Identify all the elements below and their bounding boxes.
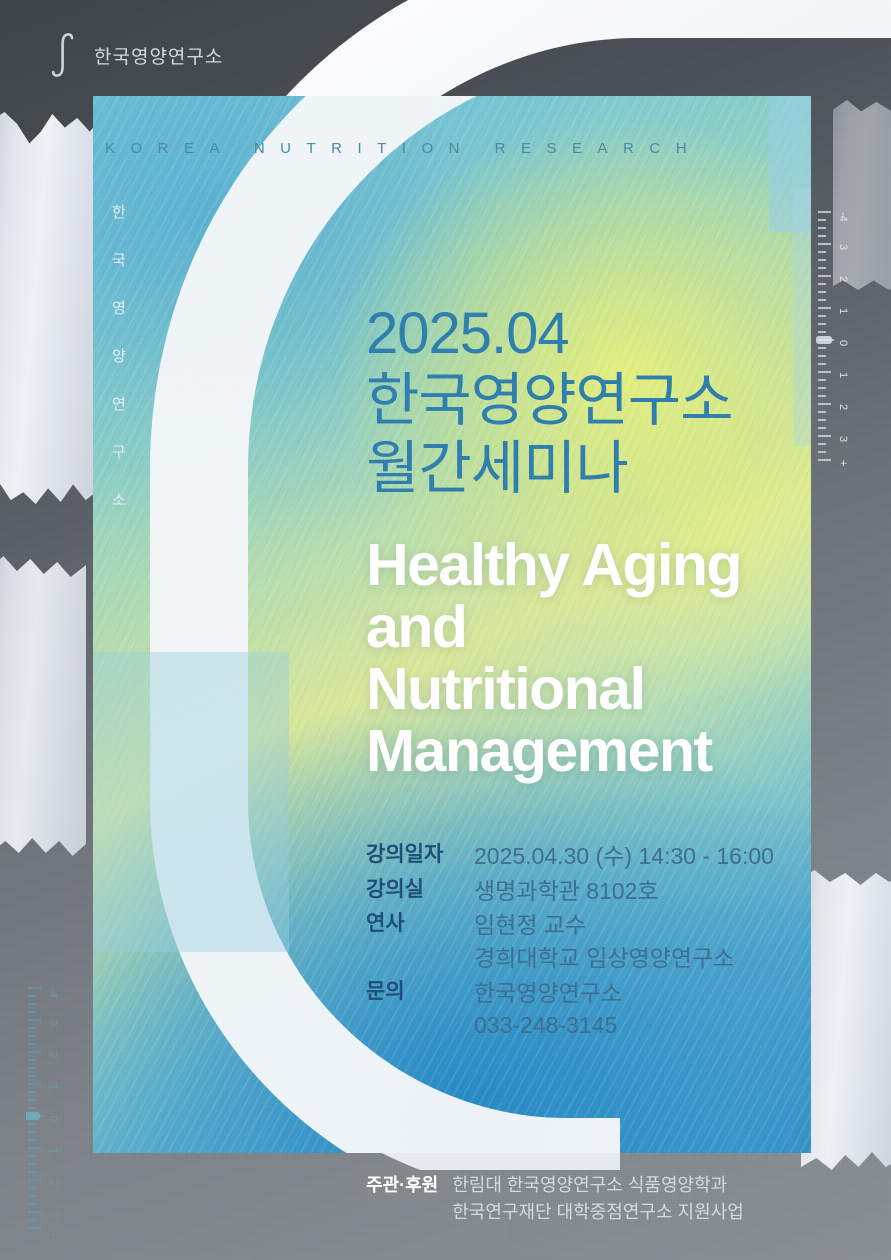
- korean-title-line: 한국영양연구소: [366, 367, 733, 434]
- korean-title-block: 2025.04 한국영양연구소 월간세미나: [366, 300, 733, 502]
- vertical-char: 소: [112, 493, 126, 508]
- vertical-char: 국: [112, 253, 126, 268]
- detail-value: 한국영양연구소: [474, 977, 622, 1010]
- svg-text:2: 2: [837, 404, 849, 410]
- english-title-line: Management: [366, 721, 741, 783]
- svg-text:1: 1: [837, 308, 849, 314]
- svg-text:3: 3: [47, 1212, 59, 1218]
- detail-values: 임현정 교수 경희대학교 임상영양연구소: [474, 909, 734, 974]
- torn-paper-strip-right-lower: [801, 870, 891, 1170]
- english-title-block: Healthy Aging and Nutritional Management: [366, 535, 741, 783]
- korean-title-line: 월간세미나: [366, 435, 733, 502]
- torn-paper-strip-left-lower: [0, 556, 86, 856]
- detail-values: 2025.04.30 (수) 14:30 - 16:00: [474, 840, 774, 873]
- vertical-char: 연: [112, 397, 126, 412]
- footer-value: 한림대 한국영양연구소 식품영양학과: [452, 1172, 744, 1199]
- svg-text:-4: -4: [837, 212, 849, 222]
- svg-text:0: 0: [837, 340, 849, 346]
- vertical-korean-column: 한 국 영 양 연 구 소: [112, 205, 126, 508]
- tracked-latin-header: KOREA NUTRITION RESEARCH: [105, 140, 805, 157]
- svg-text:1: 1: [47, 1084, 59, 1090]
- svg-text:2: 2: [47, 1052, 59, 1058]
- svg-text:-4: -4: [47, 988, 59, 998]
- svg-text:3: 3: [837, 244, 849, 250]
- detail-value: 2025.04.30 (수) 14:30 - 16:00: [474, 840, 774, 873]
- svg-text:1: 1: [837, 372, 849, 378]
- svg-text:3: 3: [837, 436, 849, 442]
- detail-label: 문의: [366, 977, 474, 1007]
- footer-values: 한림대 한국영양연구소 식품영양학과 한국연구재단 대학중점연구소 지원사업: [452, 1172, 744, 1226]
- vertical-char: 한: [112, 205, 126, 220]
- detail-values: 한국영양연구소 033-248-3145: [474, 977, 622, 1042]
- seminar-details-block: 강의일자 2025.04.30 (수) 14:30 - 16:00 강의실 생명…: [366, 840, 774, 1044]
- detail-label: 연사: [366, 909, 474, 939]
- svg-text:0: 0: [47, 1116, 59, 1122]
- ruler-scale-right: -4 3 2 1 0 1 2 3 +4: [816, 198, 862, 466]
- vertical-char: 구: [112, 445, 126, 460]
- detail-row-contact: 문의 한국영양연구소 033-248-3145: [366, 977, 774, 1042]
- svg-text:+4: +4: [837, 460, 849, 466]
- footer-value: 한국연구재단 대학중점연구소 지원사업: [452, 1199, 744, 1226]
- detail-label: 강의실: [366, 875, 474, 905]
- detail-row-date: 강의일자 2025.04.30 (수) 14:30 - 16:00: [366, 840, 774, 873]
- detail-row-speaker: 연사 임현정 교수 경희대학교 임상영양연구소: [366, 909, 774, 974]
- english-title-line: Nutritional: [366, 659, 741, 721]
- brand-name: 한국영양연구소: [94, 42, 223, 69]
- svg-text:+4: +4: [47, 1232, 59, 1236]
- detail-value: 임현정 교수: [474, 909, 734, 942]
- detail-values: 생명과학관 8102호: [474, 875, 659, 908]
- korean-title-line: 2025.04: [366, 300, 733, 367]
- detail-value: 생명과학관 8102호: [474, 875, 659, 908]
- footer-label: 주관·후원: [366, 1172, 438, 1199]
- brand-lockup[interactable]: 한국영양연구소: [50, 32, 223, 78]
- integral-symbol-icon: [50, 32, 76, 78]
- english-title-line: Healthy Aging: [366, 535, 741, 597]
- vertical-char: 양: [112, 349, 126, 364]
- svg-text:2: 2: [837, 276, 849, 282]
- torn-paper-strip-left-upper: [0, 112, 96, 504]
- ruler-scale-left: -4 3 2 1 0 1 2 3 +4: [26, 978, 72, 1236]
- vertical-char: 영: [112, 301, 126, 316]
- detail-value: 033-248-3145: [474, 1009, 622, 1042]
- footer-sponsor-block: 주관·후원 한림대 한국영양연구소 식품영양학과 한국연구재단 대학중점연구소 …: [366, 1172, 744, 1226]
- detail-row-room: 강의실 생명과학관 8102호: [366, 875, 774, 908]
- english-title-line: and: [366, 597, 741, 659]
- svg-text:3: 3: [47, 1020, 59, 1026]
- poster-canvas: 한국영양연구소 KOREA NUTRITION RESEARCH 한 국 영 양…: [0, 0, 891, 1260]
- svg-text:1: 1: [47, 1148, 59, 1154]
- detail-label: 강의일자: [366, 840, 474, 870]
- detail-value: 경희대학교 임상영양연구소: [474, 942, 734, 975]
- svg-text:2: 2: [47, 1180, 59, 1186]
